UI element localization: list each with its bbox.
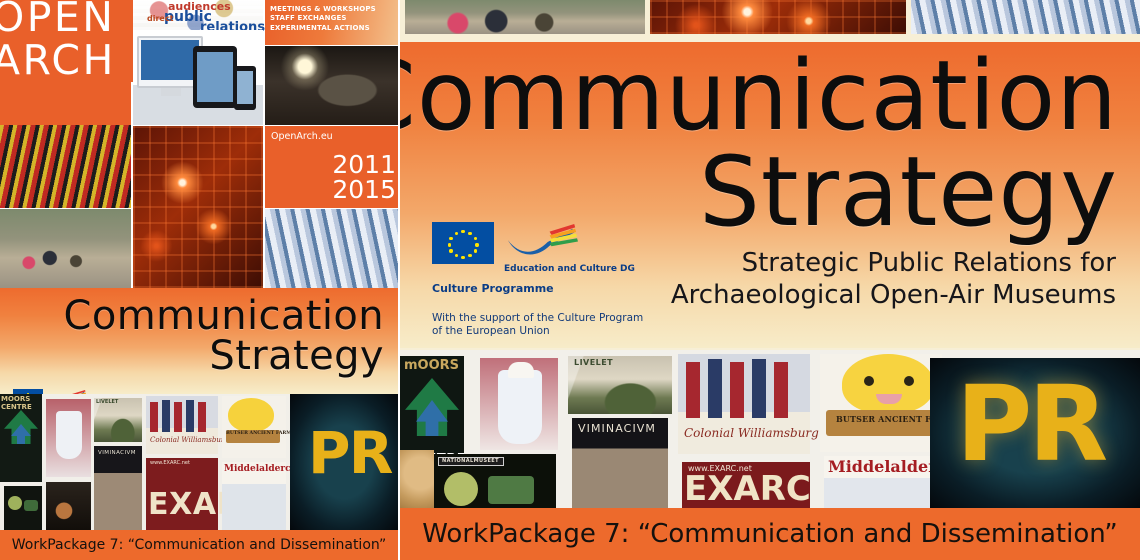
photo-film-crew (265, 46, 398, 125)
kicker-line-2: STAFF EXCHANGES (270, 14, 347, 22)
detail-photo-caption-nationalmuseet: NATIONALMUSEET (442, 458, 499, 464)
detail-footer-bar: WorkPackage 7: “Communication and Dissem… (400, 508, 1140, 560)
title-line-2: Strategy (64, 336, 384, 376)
wordcloud-term-direct: direct (147, 14, 173, 23)
footer-caption: WorkPackage 7: “Communication and Dissem… (12, 537, 387, 553)
photo-caption-moors: MOORS CENTRE (1, 395, 41, 404)
year-end: 2015 (332, 175, 396, 204)
photo-colonial-williamsburg-card (146, 396, 218, 454)
detail-eu-flag-icon (432, 222, 494, 264)
detail-subtitle-line-1: Strategic Public Relations for (742, 248, 1116, 278)
photo-woven-textiles (0, 125, 131, 208)
detail-eu-culture-bird-icon (506, 222, 578, 262)
photo-caption-exarc-url: www.EXARC.net (150, 460, 190, 466)
photo-caption-butser: BUTSER ANCIENT FARM (226, 431, 291, 436)
detail-photo-caption-williamsburg: Colonial Williamsburg (684, 426, 819, 440)
brand-wordmark: OPEN ARCH (0, 0, 142, 82)
detail-eu-support-line-1: With the support of the Culture Program (432, 312, 643, 324)
detail-photo-butser-farm-magnet (820, 354, 942, 452)
detail-photo-caption-pr: PR (956, 372, 1104, 476)
poster-thumbnail-full-cover: OPEN ARCH audiences public relations dir… (0, 0, 398, 560)
screenshot-canvas: OPEN ARCH audiences public relations dir… (0, 0, 1140, 560)
detail-footer-caption: WorkPackage 7: “Communication and Dissem… (422, 519, 1118, 549)
photo-nationalmuseet-magnet (4, 486, 42, 530)
detail-top-photo-strip (400, 0, 1140, 36)
photo-brochure-stack-crop (911, 0, 1140, 34)
kicker-line-1: MEETINGS & WORKSHOPS (270, 5, 376, 13)
photo-digital-network (133, 126, 263, 288)
detail-eu-support-line-2: of the European Union (432, 325, 550, 337)
detail-photo-caption-livelet: LIVELET (574, 358, 613, 367)
footer-bar: WorkPackage 7: “Communication and Dissem… (0, 530, 398, 560)
photo-brochure-stack (265, 209, 398, 288)
photo-caption-williamsburg: Colonial Williamsburg (150, 436, 229, 444)
photo-museum-visitors-crop (405, 0, 645, 34)
detail-photo-costumed-interpreter (480, 358, 558, 450)
poster-title: Communication Strategy (64, 296, 384, 376)
detail-bottom-photo-strip: mOORS CENTRE NATIONALMUSEET LIVELET VIMI… (400, 350, 1140, 508)
detail-title-line-2: Strategy (699, 136, 1118, 248)
photo-museum-visitors (0, 209, 131, 288)
detail-subtitle-line-2: Archaeological Open-Air Museums (671, 280, 1116, 310)
detail-photo-caption-viminacium: VIMINACIVM (578, 422, 664, 435)
brand-line-2: ARCH (0, 36, 116, 84)
poster-detail-zoom: Communication Strategy Strategic Public … (400, 0, 1140, 560)
detail-eu-culture-programme-logo: Education and Culture DG Culture Program… (432, 222, 643, 338)
website-label: OpenArch.eu (271, 131, 333, 142)
detail-eu-dg-label: Education and Culture DG (504, 264, 643, 274)
photo-caption-viminacium: VIMINACIVM (98, 450, 140, 456)
photo-butser-farm-magnet (222, 396, 286, 458)
kicker-line-3: EXPERIMENTAL ACTIONS (270, 24, 370, 32)
detail-poster-title: Communication Strategy (400, 48, 1118, 240)
detail-photo-nationalmuseet-magnet: NATIONALMUSEET (434, 454, 556, 508)
kicker-text: MEETINGS & WORKSHOPS STAFF EXCHANGES EXP… (270, 5, 376, 33)
detail-eu-support-statement: With the support of the Culture Program … (432, 312, 643, 338)
detail-photo-caption-exarc: EXARC (684, 472, 811, 506)
photo-caption-livelet: LIVELET (96, 399, 118, 405)
project-years: 2011 2015 (266, 152, 396, 202)
bottom-photo-strip: MOORS CENTRE LIVELET VIMINACIVM Colonial… (0, 394, 398, 530)
photo-responsive-devices (133, 30, 263, 125)
photo-dark-exhibit (46, 482, 91, 530)
photo-caption-pr: PR (308, 424, 392, 482)
cover-photo-mosaic: OPEN ARCH audiences public relations dir… (0, 0, 398, 288)
detail-eu-programme-label: Culture Programme (432, 282, 643, 295)
brand-line-1: OPEN (0, 0, 115, 41)
detail-poster-subtitle: Strategic Public Relations for Archaeolo… (671, 248, 1116, 311)
photo-costumed-interpreter (46, 399, 91, 477)
photo-digital-network-crop (650, 0, 906, 34)
photo-viminacium-brochure (94, 446, 142, 530)
detail-photo-pottery-fragment (400, 450, 434, 508)
